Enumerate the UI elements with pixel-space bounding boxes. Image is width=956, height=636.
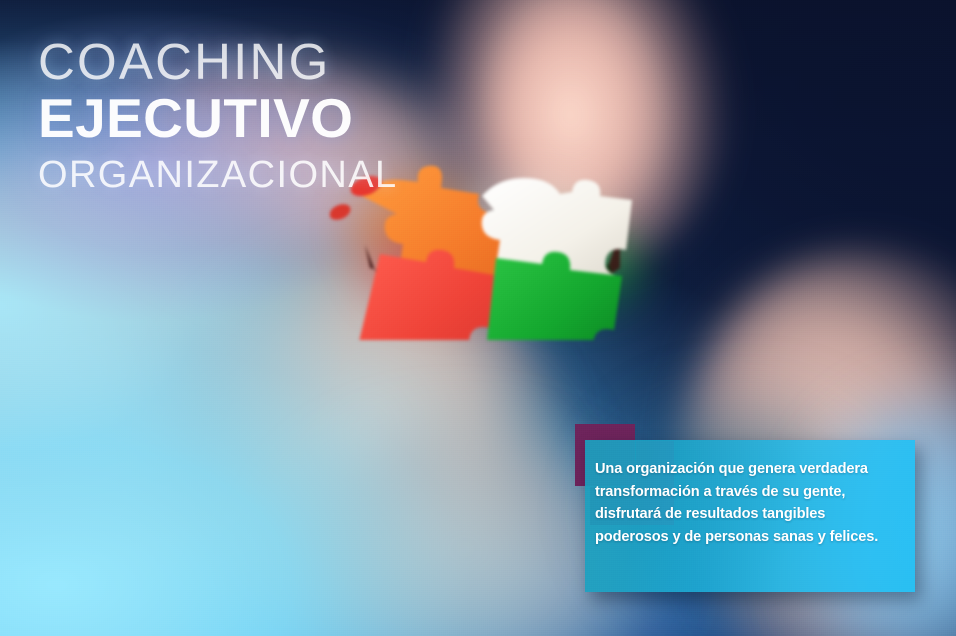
quote-line-1: Una organización que genera verdadera [595,458,895,481]
quote-line-4: poderosos y de personas sanas y felices. [595,526,895,549]
headline-block: COACHING EJECUTIVO ORGANIZACIONAL [38,34,398,198]
quote-text: Una organización que genera verdadera tr… [595,458,895,548]
headline-line-ejecutivo: EJECUTIVO [38,88,398,148]
headline-line-coaching: COACHING [38,34,398,90]
headline-line-organizacional: ORGANIZACIONAL [38,152,398,198]
quote-line-2: transformación a través de su gente, [595,481,895,504]
banner-canvas: COACHING EJECUTIVO ORGANIZACIONAL Una or… [0,0,956,636]
quote-line-3: disfrutará de resultados tangibles [595,503,895,526]
quote-panel: Una organización que genera verdadera tr… [575,424,915,594]
